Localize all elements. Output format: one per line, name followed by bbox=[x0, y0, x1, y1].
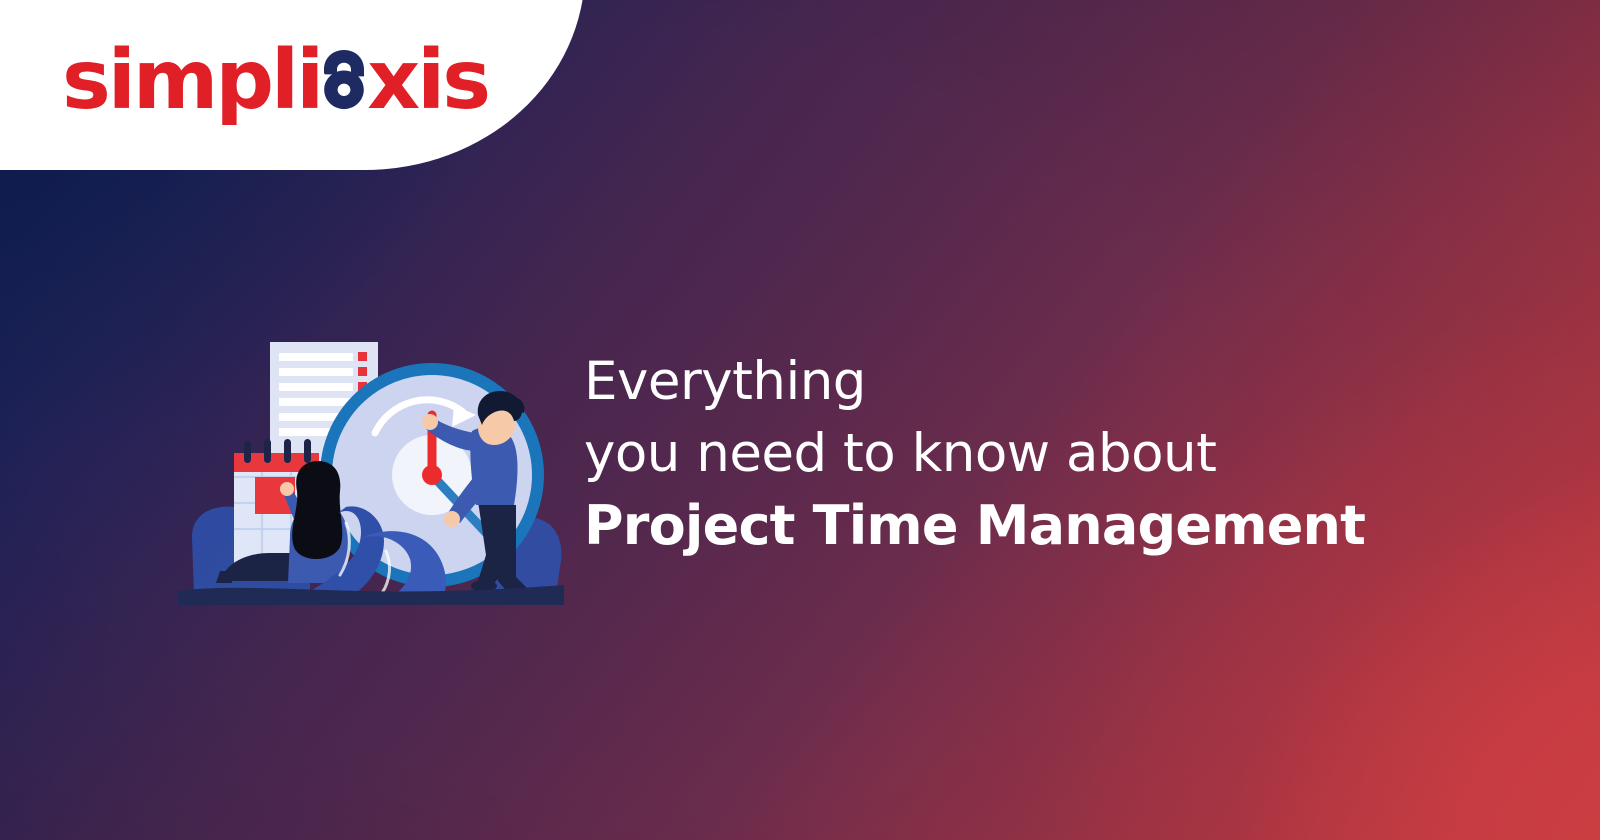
logo-wordmark: simplixis bbox=[62, 40, 488, 122]
headline-block: Everything you need to know about Projec… bbox=[584, 346, 1444, 562]
logo-text-before: simpli bbox=[62, 40, 321, 122]
banner: simplixis Everything you need to know ab… bbox=[0, 0, 1600, 840]
headline-line-3: Project Time Management bbox=[584, 490, 1444, 562]
headline-line-1: Everything bbox=[584, 346, 1444, 418]
man-upper-hand bbox=[422, 414, 438, 430]
headline-line-2: you need to know about bbox=[584, 418, 1444, 490]
logo-text-after: xis bbox=[367, 40, 488, 122]
woman-hand bbox=[280, 482, 294, 496]
clock-center-pin bbox=[422, 465, 442, 485]
man-lower-hand bbox=[444, 511, 460, 527]
logo-a-glyph-icon bbox=[321, 46, 367, 108]
project-time-management-illustration bbox=[160, 305, 580, 605]
logo[interactable]: simplixis bbox=[62, 38, 488, 124]
